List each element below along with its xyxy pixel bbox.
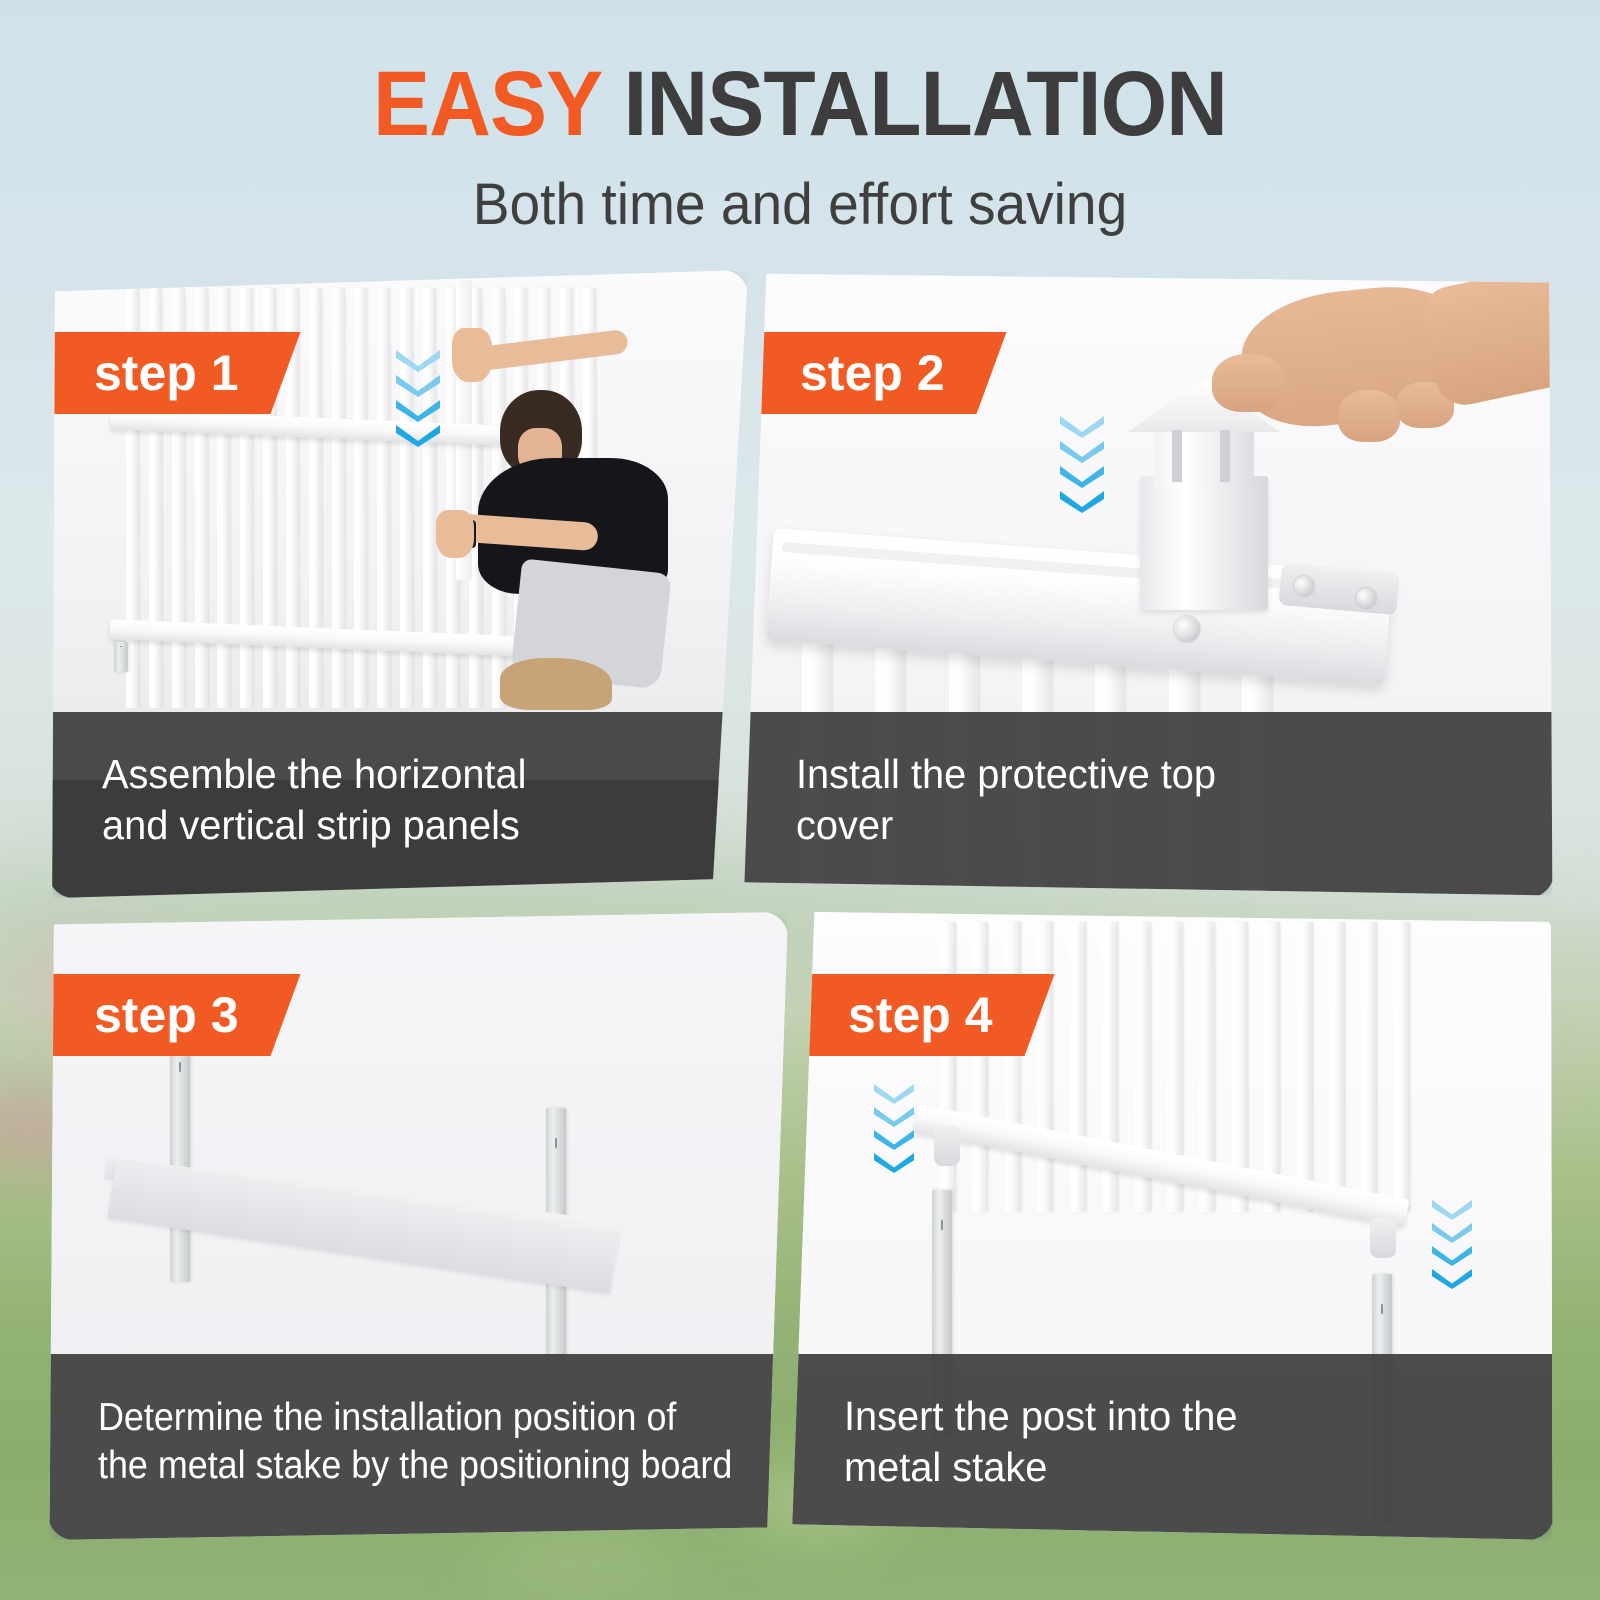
- rail-bracket-right: [1370, 1218, 1396, 1258]
- bracket-screw-2: [1356, 588, 1376, 608]
- metal-stake-left: [170, 1032, 190, 1282]
- step-caption-3-line2: the metal stake by the positioning board: [98, 1442, 732, 1490]
- step-caption-3: Determine the installation position of t…: [48, 1354, 788, 1540]
- step-badge-1: step 1: [48, 332, 301, 414]
- heading-block: EASY INSTALLATION Both time and effort s…: [0, 58, 1600, 234]
- chevron-arrows-down: [1060, 416, 1104, 513]
- step-badge-3: step 3: [48, 974, 301, 1056]
- chevron-arrows-down: [396, 350, 440, 447]
- step-caption-2-line2: cover: [796, 800, 1216, 851]
- step-caption-2-line1: Install the protective top: [796, 749, 1216, 800]
- page-title: EASY INSTALLATION: [56, 58, 1544, 150]
- chevron-arrows-down-left: [874, 1084, 914, 1173]
- step-caption-1: Assemble the horizontal and vertical str…: [48, 712, 748, 898]
- hand-thumb: [1212, 354, 1286, 412]
- rail-bracket-left: [934, 1126, 960, 1166]
- step-caption-4-line1: Insert the post into the: [844, 1391, 1238, 1442]
- step-panel-1[interactable]: step 1 Assemble the horizontal and verti…: [48, 270, 748, 898]
- fence-foot-left: [114, 642, 128, 672]
- person-hand-lower: [436, 510, 474, 558]
- step-caption-1-line1: Assemble the horizontal: [102, 749, 526, 800]
- step-caption-1-line2: and vertical strip panels: [102, 800, 526, 851]
- step-badge-4-label: step 4: [848, 986, 993, 1044]
- cap-slat-right: [1220, 430, 1230, 482]
- step-caption-4: Insert the post into the metal stake: [790, 1354, 1554, 1540]
- step-caption-3-line1: Determine the installation position of: [98, 1394, 732, 1442]
- step-panel-4[interactable]: step 4 Insert the post into the metal st…: [790, 912, 1554, 1540]
- person-hand-upper: [452, 328, 492, 382]
- hand-finger-1: [1338, 390, 1400, 442]
- person-shoe: [500, 658, 612, 710]
- step-badge-4: step 4: [802, 974, 1055, 1056]
- title-highlight: EASY: [373, 53, 601, 155]
- cap-slat-left: [1172, 430, 1182, 482]
- step-panel-2[interactable]: step 2 Install the protective top cover: [742, 270, 1554, 898]
- step-badge-2-label: step 2: [800, 344, 945, 402]
- step-caption-2: Install the protective top cover: [742, 712, 1554, 898]
- rail-screw: [1174, 616, 1200, 642]
- page-subtitle: Both time and effort saving: [40, 176, 1560, 234]
- steps-grid: step 1 Assemble the horizontal and verti…: [0, 262, 1600, 1552]
- title-rest: INSTALLATION: [624, 53, 1228, 155]
- step-badge-3-label: step 3: [94, 986, 239, 1044]
- post-sleeve: [1140, 476, 1268, 610]
- step-badge-2: step 2: [754, 332, 1007, 414]
- chevron-arrows-down-right: [1432, 1200, 1472, 1289]
- step-badge-1-label: step 1: [94, 344, 239, 402]
- step-caption-4-line2: metal stake: [844, 1442, 1238, 1493]
- bracket-screw-1: [1294, 576, 1314, 596]
- step-panel-3[interactable]: step 3 Determine the installation positi…: [48, 912, 788, 1540]
